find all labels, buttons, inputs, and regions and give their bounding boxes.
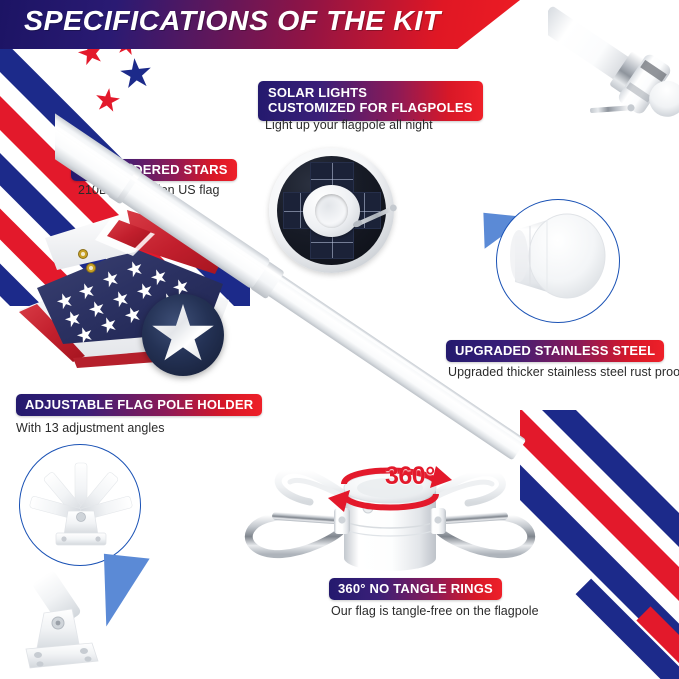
badge-upgraded-stainless-steel: UPGRADED STAINLESS STEEL <box>446 340 664 362</box>
subtitle-upgraded-stainless-steel: Upgraded thicker stainless steel rust pr… <box>448 365 679 379</box>
infographic-canvas: SPECIFICATIONS OF THE KIT <box>0 0 679 679</box>
rotation-callout-360: 360° <box>385 462 435 491</box>
badge-no-tangle-rings: 360° NO TANGLE RINGS <box>329 578 502 600</box>
badge-adjustable-flag-pole-holder: ADJUSTABLE FLAG POLE HOLDER <box>16 394 262 416</box>
no-tangle-ring-assembly <box>238 440 568 580</box>
subtitle-no-tangle-rings: Our flag is tangle-free on the flagpole <box>331 604 539 618</box>
wall-mount-bracket <box>14 565 144 679</box>
magnifier-circle-stainless <box>496 199 620 323</box>
subtitle-adjustable-flag-pole-holder: With 13 adjustment angles <box>16 421 165 435</box>
magnifier-circle-holder <box>19 444 141 566</box>
